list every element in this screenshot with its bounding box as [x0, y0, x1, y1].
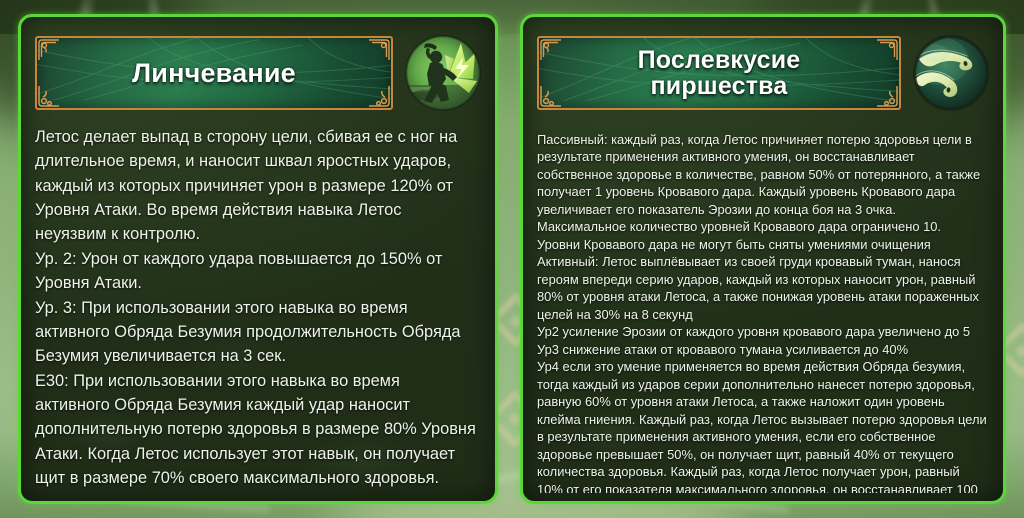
- banner-corner-ornament-bottom-right: [368, 85, 390, 107]
- banner-corner-ornament-bottom-left: [38, 85, 60, 107]
- banner-corner-ornament-bottom-right: [876, 85, 898, 107]
- skill-card-linchevanie[interactable]: Линчевание: [18, 14, 498, 504]
- skill-title-banner-left: Линчевание: [35, 36, 393, 110]
- skill-title-right: Послевкусие пиршества: [612, 47, 827, 100]
- banner-corner-ornament-bottom-left: [540, 85, 562, 107]
- skill-card-header-left: Линчевание: [21, 17, 495, 111]
- skill-description-left: Летос делает выпад в сторону цели, сбива…: [21, 125, 495, 493]
- banner-corner-ornament-top-left: [540, 39, 562, 61]
- skill-title-left: Линчевание: [106, 59, 322, 88]
- lynching-skill-icon[interactable]: [405, 35, 481, 111]
- skill-card-header-right: Послевкусие пиршества: [523, 17, 1003, 111]
- skill-detail-screen: Линчевание: [0, 0, 1024, 518]
- feast-aftertaste-skill-icon-art: [913, 35, 989, 111]
- banner-corner-ornament-top-right: [368, 39, 390, 61]
- skill-title-banner-right: Послевкусие пиршества: [537, 36, 901, 110]
- lynching-skill-icon-art: [405, 35, 481, 111]
- skill-description-right: Пассивный: каждый раз, когда Летос причи…: [523, 131, 1003, 493]
- feast-aftertaste-skill-icon[interactable]: [913, 35, 989, 111]
- banner-corner-ornament-top-left: [38, 39, 60, 61]
- banner-corner-ornament-top-right: [876, 39, 898, 61]
- skill-card-poslevkusie-pirshestva[interactable]: Послевкусие пиршества: [520, 14, 1006, 504]
